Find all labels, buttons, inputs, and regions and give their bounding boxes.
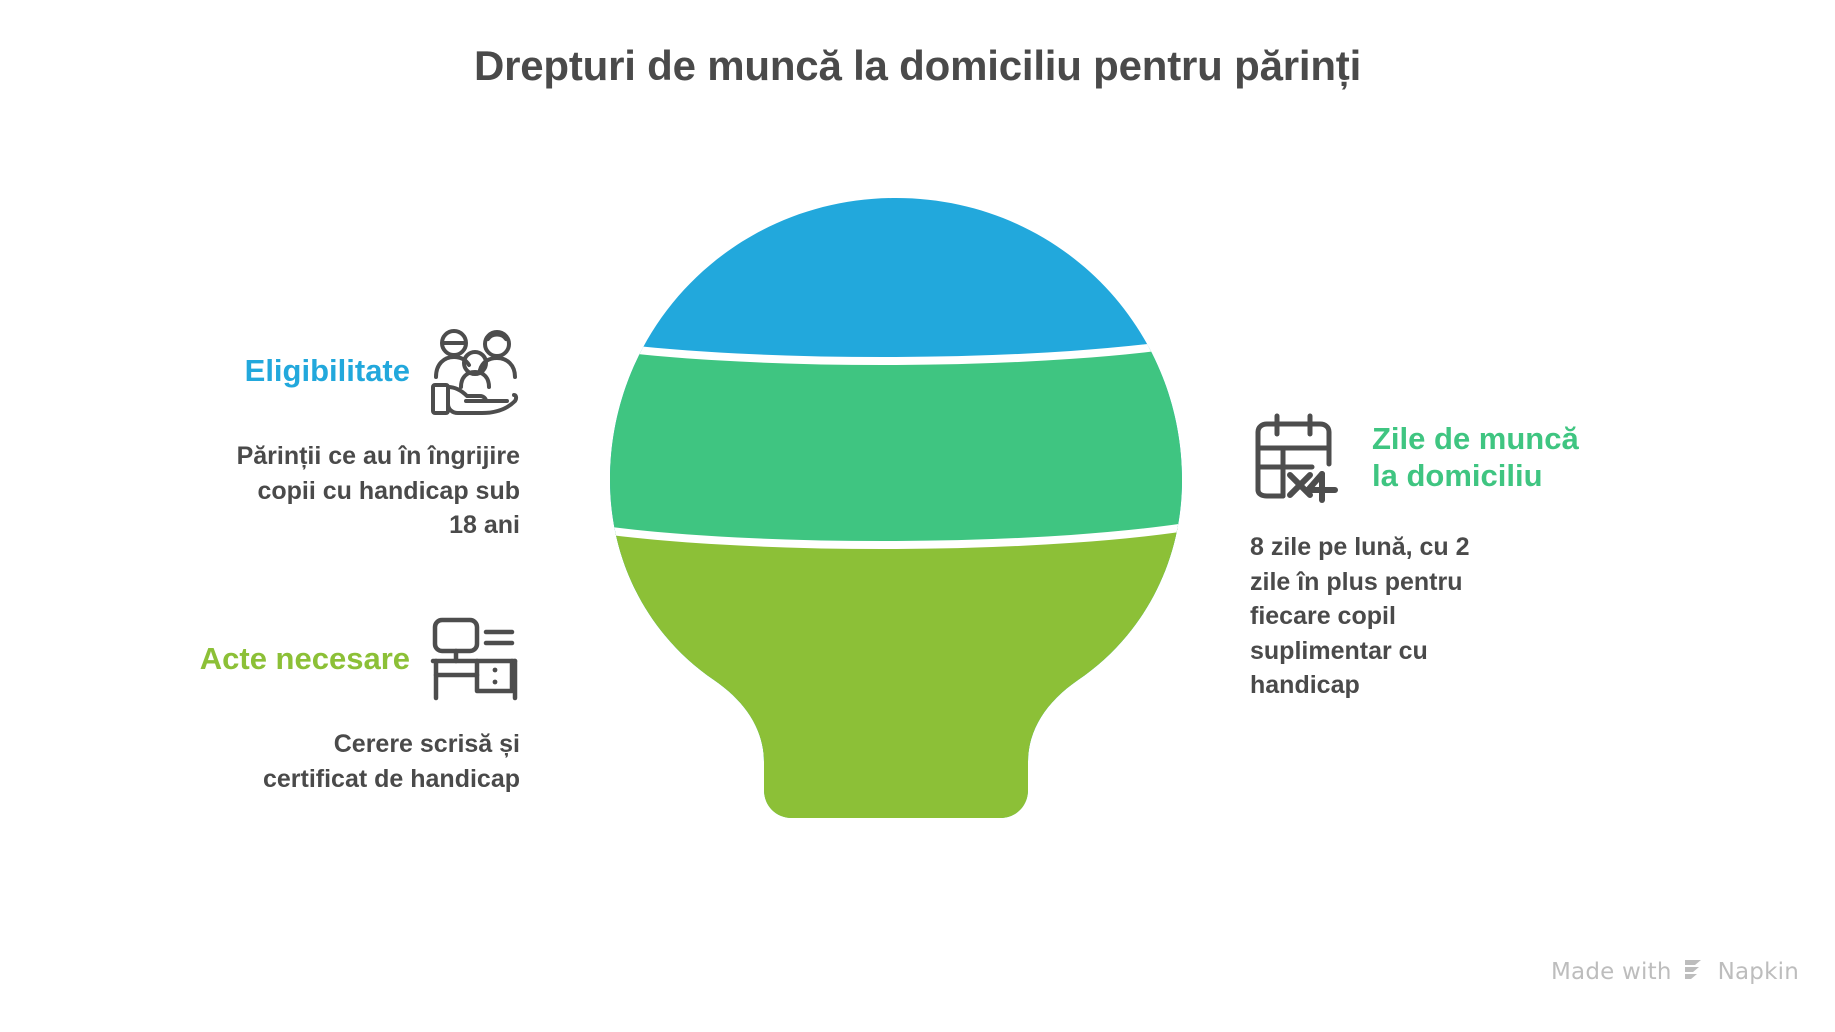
section-workdays: Zile de muncă la domiciliu 8 zile pe lun… [1250, 412, 1670, 703]
page-title: Drepturi de muncă la domiciliu pentru pă… [0, 42, 1835, 90]
watermark-prefix: Made with [1551, 959, 1672, 985]
section-eligibility-body: Părinții ce au în îngrijire copii cu han… [235, 439, 520, 543]
section-documents-header: Acte necesare [150, 613, 520, 705]
section-eligibility: Eligibilitate [150, 325, 520, 543]
napkin-watermark: Made with Napkin [1551, 956, 1799, 988]
section-workdays-heading: Zile de muncă la domiciliu [1372, 421, 1579, 494]
desk-workstation-icon [428, 613, 520, 705]
section-documents: Acte necesare [150, 613, 520, 796]
section-eligibility-header: Eligibilitate [150, 325, 520, 417]
calendar-x4-icon [1250, 412, 1354, 504]
family-in-hand-icon [428, 325, 520, 417]
napkin-logo-icon [1682, 956, 1708, 988]
bulb-bottom-band [596, 522, 1196, 830]
section-workdays-body: 8 zile pe lună, cu 2 zile în plus pentru… [1250, 530, 1510, 703]
section-documents-body: Cerere scrisă și certificat de handicap [235, 727, 520, 796]
light-bulb-graphic [596, 190, 1196, 830]
section-eligibility-heading: Eligibilitate [245, 353, 410, 390]
section-documents-heading: Acte necesare [200, 641, 410, 678]
watermark-brand: Napkin [1718, 959, 1799, 985]
section-workdays-header: Zile de muncă la domiciliu [1250, 412, 1670, 504]
